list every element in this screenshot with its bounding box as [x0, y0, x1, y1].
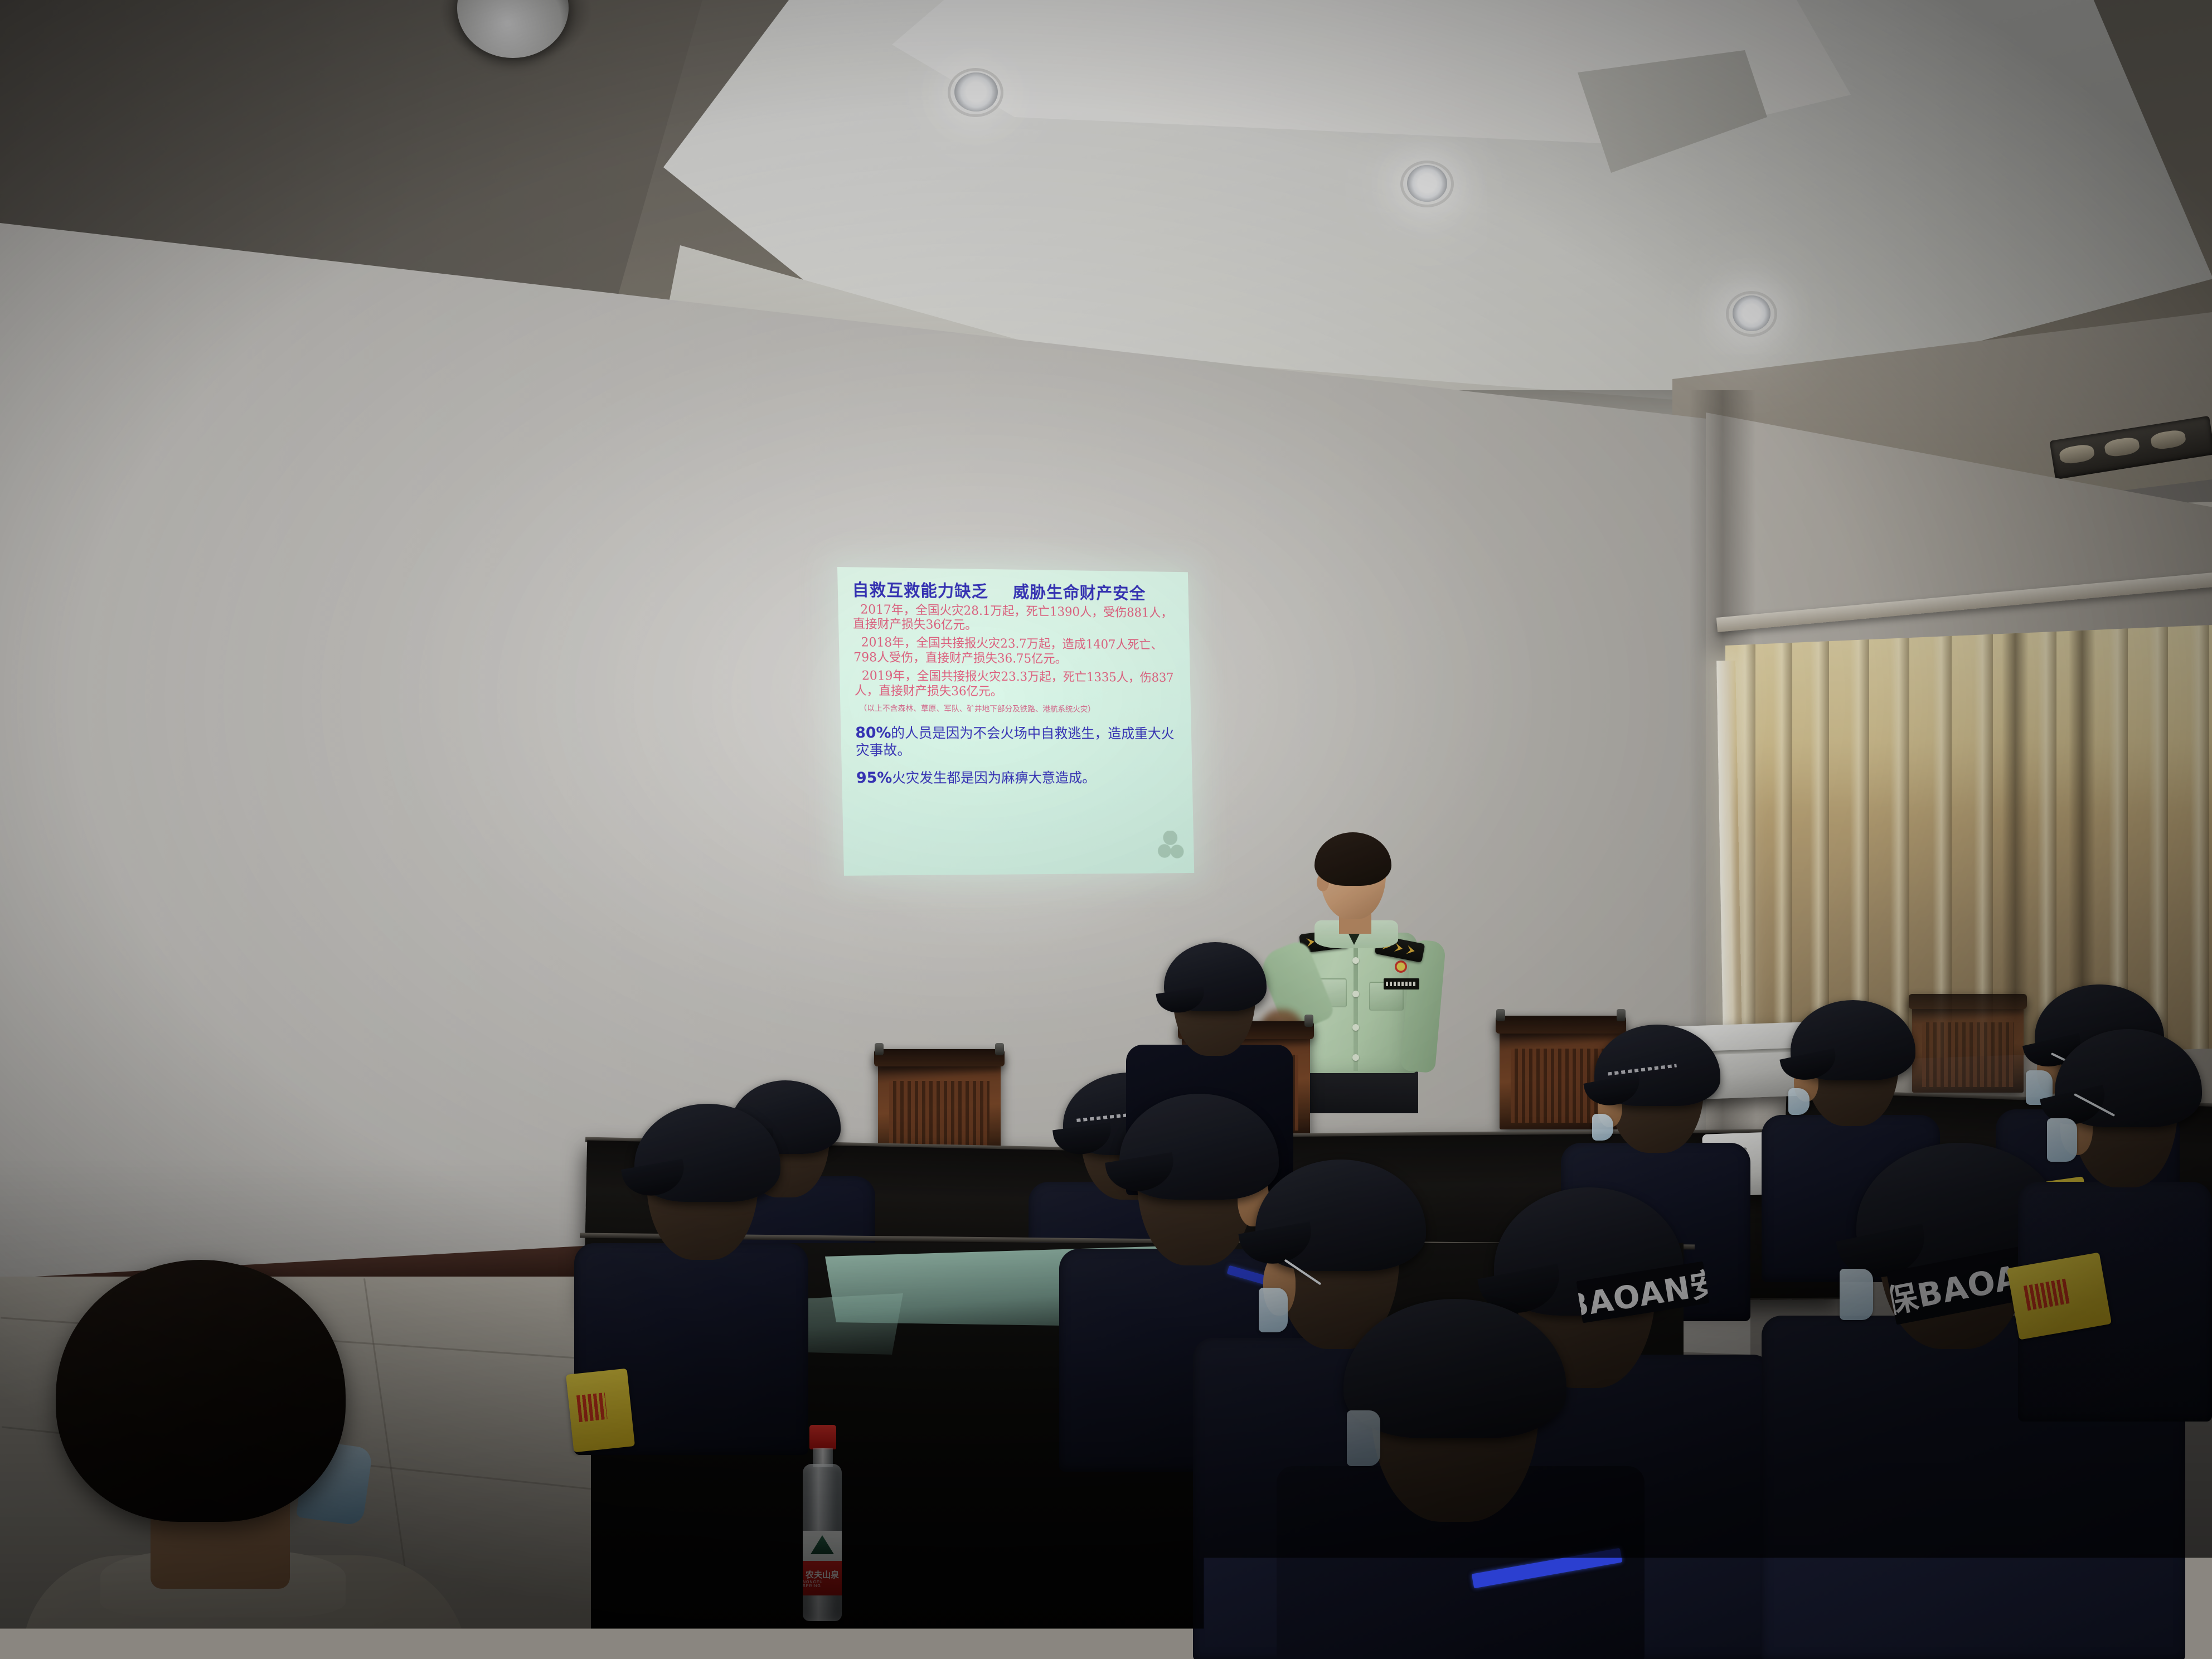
slide-title-right: 威胁生命财产安全: [1013, 583, 1146, 604]
slide-highlight-80-text: 的人员是因为不会火场中自救逃生，造成重大火灾事故。: [856, 725, 1175, 759]
slide-highlight-95-text: 火灾发生都是因为麻痹大意造成。: [892, 770, 1096, 786]
conference-room-scene: 自救互救能力缺乏 威胁生命财产安全 2017年，全国火灾28.1万起，死亡139…: [0, 0, 2212, 1659]
slide-scope-note: （以上不含森林、草原、军队、矿井地下部分及铁路、港航系统火灾）: [855, 705, 1180, 715]
armband-left-2: [566, 1369, 635, 1453]
presenter-hair: [1314, 832, 1391, 886]
projected-slide: 自救互救能力缺乏 威胁生命财产安全 2017年，全国火灾28.1万起，死亡139…: [837, 567, 1194, 876]
slide-paragraph-2018: 2018年，全国共接报火灾23.7万起，造成1407人死亡、798人受伤，直接财…: [853, 636, 1180, 668]
slide-paragraph-2019: 2019年，全国共接报火灾23.3万起，死亡1335人，伤837人，直接财产损失…: [854, 669, 1180, 701]
slide-paragraph-2017: 2017年，全国火灾28.1万起，死亡1390人，受伤881人，直接财产损失36…: [852, 603, 1178, 636]
slide-title-left: 自救互救能力缺乏: [852, 580, 988, 601]
slide-highlight-95: 95%火灾发生都是因为麻痹大意造成。: [856, 769, 1182, 788]
downlight-2: [1407, 165, 1447, 202]
water-bottle[interactable]: 农夫山泉 NONGFU SPRING: [798, 1425, 846, 1626]
slide-stat-80: 80%: [855, 724, 891, 741]
person-right-4: [2018, 998, 2212, 1422]
slide-title: 自救互救能力缺乏 威胁生命财产安全: [852, 581, 1178, 603]
bottle-brand-cn: 农夫山泉: [806, 1569, 839, 1580]
downlight-3: [1733, 295, 1770, 331]
person-foreground: [22, 1260, 446, 1659]
person-front-center: [1277, 1299, 1645, 1659]
three-leaf-emblem-icon: [1156, 831, 1184, 862]
presenter-chest-emblem-icon: [1395, 961, 1407, 973]
person-left-2: [574, 1059, 808, 1449]
bottle-brand-en: NONGFU SPRING: [803, 1580, 842, 1588]
slide-highlight-80: 80%的人员是因为不会火场中自救逃生，造成重大火灾事故。: [855, 724, 1181, 760]
bottle-cap: [809, 1425, 836, 1449]
foreground-hair: [56, 1260, 346, 1522]
presenter-name-badge: [1384, 978, 1419, 989]
bottle-label-red: 农夫山泉 NONGFU SPRING: [803, 1561, 842, 1595]
downlight-1: [954, 72, 998, 111]
slide-stat-95: 95%: [856, 769, 892, 787]
